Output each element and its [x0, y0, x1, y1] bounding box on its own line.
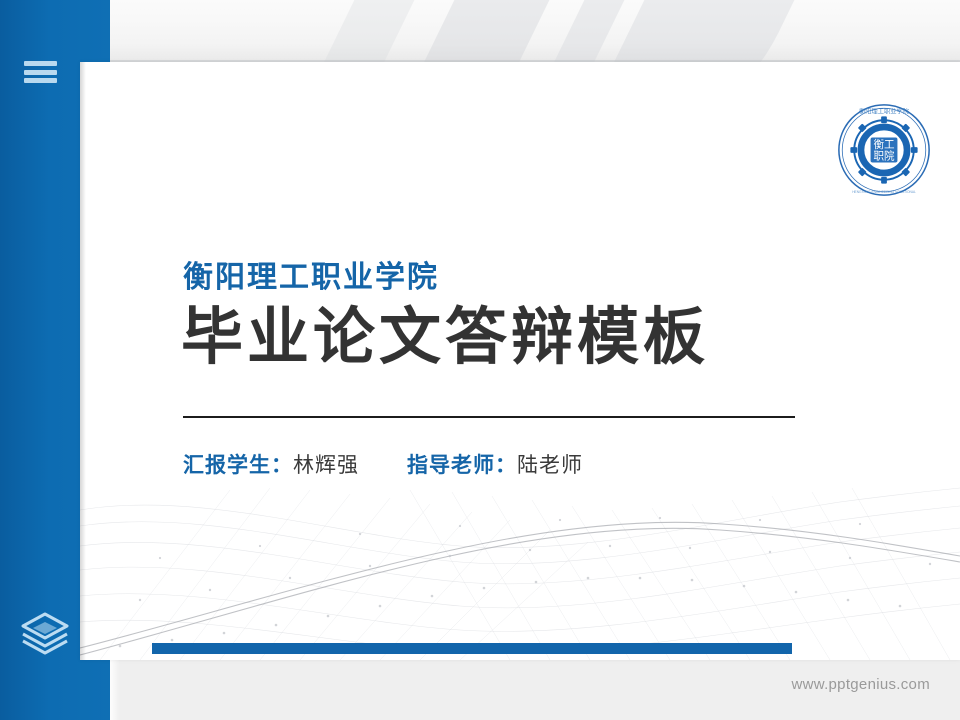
footer-url: www.pptgenius.com: [792, 676, 931, 693]
school-name: 衡阳理工职业学院: [183, 252, 439, 296]
layers-stack-icon[interactable]: [17, 604, 73, 660]
hamburger-bar-3: [24, 78, 57, 83]
svg-text:衡工: 衡工: [873, 139, 895, 151]
footer-strip-edge: [110, 660, 120, 720]
slide-left-shadow: [80, 62, 86, 660]
svg-text:衡阳理工职业学院: 衡阳理工职业学院: [859, 108, 910, 116]
advisor-value: 陆老师: [517, 449, 583, 479]
title-divider-rule: [183, 416, 795, 418]
student-value: 林辉强: [293, 449, 359, 479]
svg-text:HENGYANG ENGINEERING VOCATIONA: HENGYANG ENGINEERING VOCATIONAL: [852, 190, 916, 194]
hamburger-bar-1: [24, 61, 57, 66]
top-background-band: [0, 0, 960, 62]
mesh-wave-decoration: [80, 450, 960, 660]
student-label: 汇报学生：: [183, 449, 293, 479]
advisor-label: 指导老师：: [407, 449, 517, 479]
svg-text:职院: 职院: [873, 150, 895, 163]
background-ribbon-1: [286, 0, 434, 62]
presentation-viewer: 衡工 职院 衡阳理工职业学院 HENGYANG ENGINEERING VOCA…: [0, 0, 960, 720]
byline: 汇报学生： 林辉强 指导老师： 陆老师: [183, 449, 583, 479]
hamburger-menu-icon[interactable]: [24, 58, 57, 86]
hamburger-bar-2: [24, 70, 57, 75]
slide-bottom-accent-bar: [152, 643, 792, 654]
university-seal-icon: 衡工 职院 衡阳理工职业学院 HENGYANG ENGINEERING VOCA…: [836, 102, 932, 198]
page-title: 毕业论文答辩模板: [181, 302, 709, 373]
background-ribbon-2: [386, 0, 569, 62]
slide-canvas[interactable]: 衡工 职院 衡阳理工职业学院 HENGYANG ENGINEERING VOCA…: [80, 62, 960, 660]
